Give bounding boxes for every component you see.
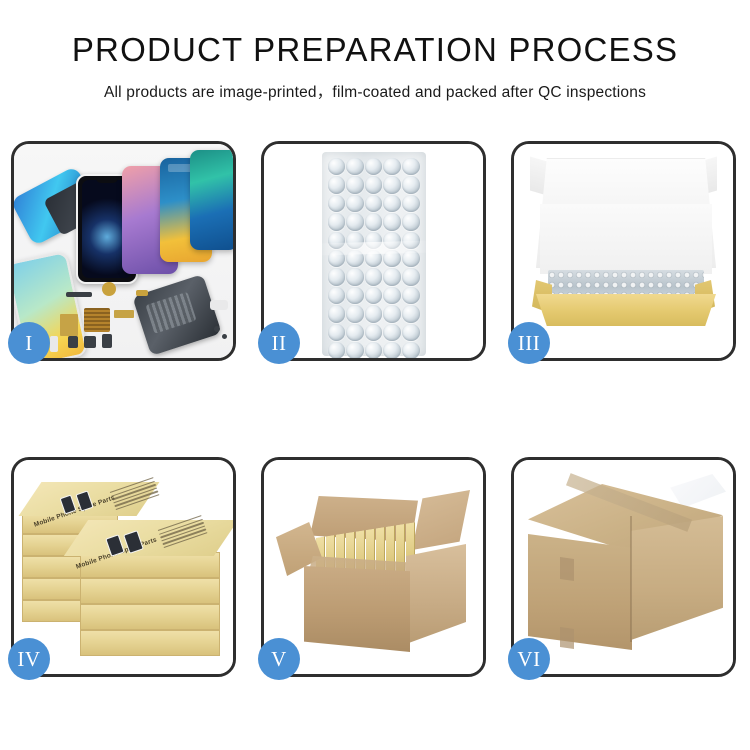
part-earpiece-mesh xyxy=(66,292,92,297)
bubble xyxy=(346,287,364,304)
bubble xyxy=(402,195,420,212)
step-image-3 xyxy=(514,144,733,358)
bubble xyxy=(383,176,401,193)
page-title: PRODUCT PREPARATION PROCESS xyxy=(0,32,750,68)
part-flex-connector xyxy=(136,290,148,296)
step-image-1 xyxy=(14,144,233,358)
part-small-button xyxy=(68,336,78,348)
step-panel-3: III xyxy=(511,141,736,361)
part-speaker-module xyxy=(84,336,96,348)
bubble xyxy=(365,268,383,285)
bubble xyxy=(328,305,346,322)
infographic-page: PRODUCT PREPARATION PROCESS All products… xyxy=(0,0,750,750)
bubble xyxy=(365,324,383,341)
step-image-6 xyxy=(514,460,733,674)
part-vibrator-motor xyxy=(102,334,112,348)
bubble xyxy=(383,324,401,341)
bubble xyxy=(346,195,364,212)
step-image-4: Mobile Phone Spare Parts Mobile Phone Sp… xyxy=(14,460,233,674)
bubble xyxy=(365,305,383,322)
bubble xyxy=(346,213,364,230)
carton-right-panel xyxy=(631,516,723,640)
bubble xyxy=(328,268,346,285)
bubble xyxy=(328,158,346,175)
bubble xyxy=(328,195,346,212)
step-badge-3: III xyxy=(508,322,550,364)
bubble xyxy=(402,324,420,341)
stacked-box xyxy=(80,630,220,656)
wrap-sheen xyxy=(321,240,425,255)
phone-screen-teal xyxy=(190,150,233,250)
bubble xyxy=(346,305,364,322)
part-flex-cable-right xyxy=(114,310,134,318)
bubble xyxy=(365,213,383,230)
bubble xyxy=(328,176,346,193)
bubble xyxy=(346,324,364,341)
stacked-box xyxy=(80,604,220,630)
step-panel-5: V xyxy=(261,457,486,677)
part-screw-1 xyxy=(214,326,220,332)
bubble xyxy=(365,287,383,304)
step-panel-6: VI xyxy=(511,457,736,677)
step-image-5 xyxy=(264,460,483,674)
step-badge-1: I xyxy=(8,322,50,364)
bubble xyxy=(365,342,383,358)
step-image-2 xyxy=(264,144,483,358)
bubble xyxy=(365,176,383,193)
part-tool-tweezers xyxy=(210,300,228,310)
part-sim-tray xyxy=(50,336,58,352)
box-stack: Mobile Phone Spare Parts Mobile Phone Sp… xyxy=(20,474,232,670)
process-steps-grid: I xyxy=(11,141,739,681)
bubble xyxy=(346,268,364,285)
carton-left-panel xyxy=(528,534,632,650)
bubble xyxy=(383,342,401,358)
header: PRODUCT PREPARATION PROCESS All products… xyxy=(0,0,750,102)
part-chip-array xyxy=(84,308,110,332)
step-badge-6: VI xyxy=(508,638,550,680)
bubble xyxy=(402,268,420,285)
carton-front-panel xyxy=(304,566,410,652)
bubble xyxy=(383,158,401,175)
bubble xyxy=(383,305,401,322)
box-inner-liner xyxy=(540,204,712,274)
step-panel-1: I xyxy=(11,141,236,361)
bubble xyxy=(383,195,401,212)
step-panel-2: II xyxy=(261,141,486,361)
bubble xyxy=(346,158,364,175)
packing-tape-patch-upper xyxy=(560,557,574,581)
carton-side-panel xyxy=(406,544,466,644)
bubble xyxy=(383,213,401,230)
bubble xyxy=(402,176,420,193)
part-flex-cable-left xyxy=(60,314,78,336)
bubble xyxy=(346,176,364,193)
carton-vertical-edge xyxy=(630,516,632,642)
step-badge-2: II xyxy=(258,322,300,364)
carton-flap-right xyxy=(412,490,470,550)
page-subtitle: All products are image-printed，film-coat… xyxy=(0,80,750,102)
bubble xyxy=(402,213,420,230)
bubble xyxy=(328,324,346,341)
step-panel-4: Mobile Phone Spare Parts Mobile Phone Sp… xyxy=(11,457,236,677)
bubble xyxy=(365,195,383,212)
screen-notch xyxy=(96,178,118,183)
box-front-kraft xyxy=(536,294,716,326)
bubble xyxy=(346,342,364,358)
bubble xyxy=(328,287,346,304)
bubble xyxy=(383,268,401,285)
part-camera-ring xyxy=(102,282,116,296)
bubble xyxy=(383,287,401,304)
stacked-box xyxy=(80,578,220,604)
bubble xyxy=(328,213,346,230)
bubble xyxy=(402,287,420,304)
packing-tape-patch-lower xyxy=(560,627,574,649)
bubble xyxy=(365,158,383,175)
step-badge-4: IV xyxy=(8,638,50,680)
step-badge-5: V xyxy=(258,638,300,680)
bubble xyxy=(402,342,420,358)
bubble-wrap-sheet xyxy=(322,152,426,356)
bubble xyxy=(328,342,346,358)
bubble xyxy=(402,158,420,175)
part-screw-2 xyxy=(222,334,227,339)
bubble xyxy=(402,305,420,322)
phone-opened-chassis xyxy=(132,274,222,356)
